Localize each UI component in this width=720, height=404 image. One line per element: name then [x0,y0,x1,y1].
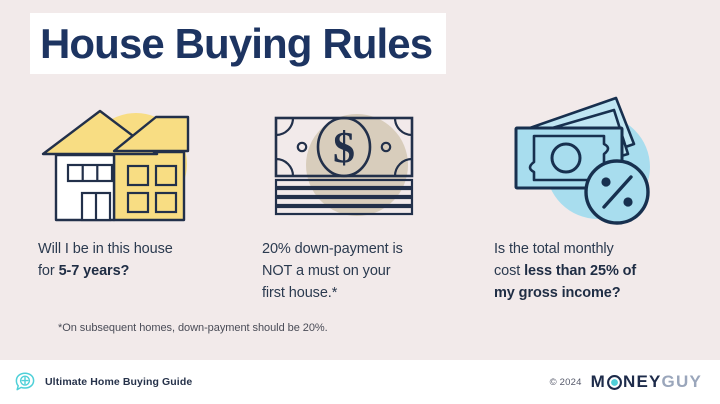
dollar-bill-icon: $ [262,92,462,232]
rule-1-line-2-bold: 5-7 years? [59,263,130,279]
svg-text:$: $ [333,123,355,172]
infographic-canvas: House Buying Rules [0,0,720,404]
rule-1-line-2: for [38,263,59,279]
dollar-bill-icon-slot: $ [262,92,462,232]
rule-1-line-1: Will I be in this house [38,241,173,257]
footer-brand: © 2024 M NEY GUY [550,372,702,392]
rule-2-line-3: first house.* [262,285,337,301]
house-icon-slot [38,92,238,232]
rule-3-line-2-bold: less than 25% of [524,263,636,279]
rule-2-line-2: NOT a must on your [262,263,390,279]
copyright-text: © 2024 [550,377,582,388]
footer-bar: Ultimate Home Buying Guide © 2024 M NEY … [0,360,720,404]
logo-o-mark-icon [607,375,622,390]
rule-text-2: 20% down-payment is NOT a must on your f… [262,238,403,304]
rule-3-line-1: Is the total monthly [494,241,614,257]
rule-3-line-3-bold: my gross income? [494,285,621,301]
rule-column-1: Will I be in this house for 5-7 years? [0,92,240,304]
guide-label: Ultimate Home Buying Guide [45,376,192,388]
rule-2-line-1: 20% down-payment is [262,241,403,257]
page-title: House Buying Rules [40,23,432,65]
moneyguy-logo[interactable]: M NEY GUY [591,372,702,392]
rule-text-1: Will I be in this house for 5-7 years? [38,238,173,282]
footnote: *On subsequent homes, down-payment shoul… [58,322,328,334]
guide-link[interactable]: Ultimate Home Buying Guide [14,371,192,393]
house-icon [38,92,238,232]
cash-percent-icon [494,92,694,232]
speech-bubble-plus-icon [14,371,36,393]
logo-part-m: M [591,372,606,392]
logo-part-guy: GUY [662,372,702,392]
rule-text-3: Is the total monthly cost less than 25% … [494,238,636,304]
cash-percent-icon-slot [494,92,694,232]
title-highlight-band: House Buying Rules [30,13,446,74]
rule-column-3: Is the total monthly cost less than 25% … [480,92,720,304]
logo-part-ney: NEY [623,372,662,392]
rule-column-2: $ 20% down-payment is NOT a must on your… [240,92,480,304]
rules-row: Will I be in this house for 5-7 years? [0,92,720,304]
rule-3-line-2: cost [494,263,524,279]
